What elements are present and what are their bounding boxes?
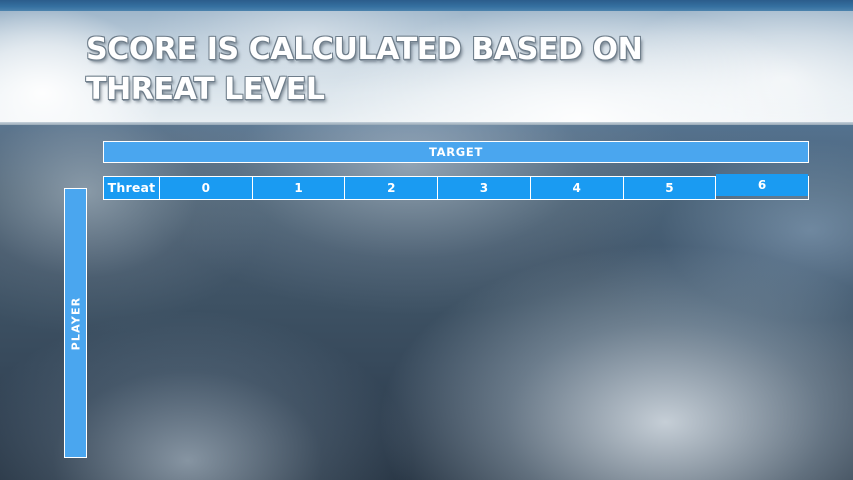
matrix-col-header: 6 <box>716 174 809 197</box>
score-matrix-table: Threat 0123456 <box>103 176 809 200</box>
matrix-header-row: Threat 0123456 <box>104 177 809 200</box>
player-axis-label: PLAYER <box>69 296 82 350</box>
top-sky-strip <box>0 0 853 11</box>
page-title: Score is calculated based on threat leve… <box>86 30 726 110</box>
matrix-col-header: 2 <box>345 177 438 200</box>
matrix-col-header: 0 <box>160 177 253 200</box>
matrix-col-header: 4 <box>530 177 623 200</box>
matrix-head: Threat 0123456 <box>104 177 809 200</box>
target-axis-banner: TARGET <box>103 141 809 163</box>
matrix-col-header: 5 <box>623 177 716 200</box>
matrix-col-header: 1 <box>252 177 345 200</box>
target-axis-label: TARGET <box>429 145 483 159</box>
matrix-col-header: 3 <box>438 177 531 200</box>
matrix-corner-header: Threat <box>104 177 160 200</box>
player-axis-banner: PLAYER <box>64 188 87 458</box>
slide-canvas: Score is calculated based on threat leve… <box>0 0 853 480</box>
